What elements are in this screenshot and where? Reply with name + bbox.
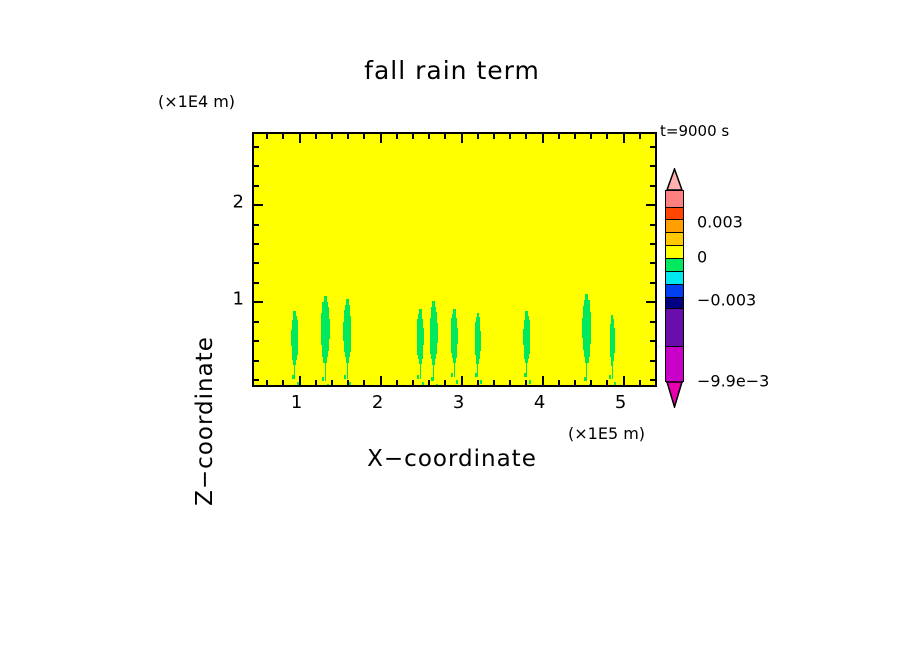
axis-tick <box>347 380 349 385</box>
plume-tail <box>475 373 477 377</box>
plume-segment <box>586 373 587 381</box>
axis-tick <box>623 376 625 385</box>
axis-tick <box>412 134 414 139</box>
axis-tick <box>363 380 365 385</box>
colorbar-band <box>666 259 683 272</box>
figure-canvas: fall rain term (×1E4 m) t=9000 s 12345 1… <box>0 0 904 654</box>
axis-tick <box>650 282 655 284</box>
plume-tail <box>524 373 526 377</box>
axis-tick <box>254 282 259 284</box>
y-tick-label: 1 <box>228 289 244 310</box>
colorbar-band <box>666 298 683 309</box>
axis-tick <box>650 321 655 323</box>
axis-tick <box>428 134 430 139</box>
axis-tick <box>254 340 259 342</box>
plume-segment <box>347 371 348 379</box>
axis-tick <box>606 380 608 385</box>
axis-tick <box>639 134 641 139</box>
plume-tail <box>327 384 329 387</box>
colorbar-top-arrow <box>665 168 684 191</box>
axis-tick <box>650 185 655 187</box>
plume-tail <box>417 375 419 379</box>
colorbar-band <box>666 309 683 347</box>
axis-tick <box>650 165 655 167</box>
y-axis-title-wrap: Z−coordinate <box>100 150 320 190</box>
colorbar-band <box>666 191 683 208</box>
axis-tick <box>396 134 398 139</box>
axis-tick <box>363 134 365 139</box>
colorbar-label: −9.9e−3 <box>697 372 769 391</box>
axis-tick <box>282 380 284 385</box>
axis-tick <box>493 134 495 139</box>
x-tick-label: 3 <box>453 392 464 413</box>
colorbar-band <box>666 233 683 246</box>
plume-tail <box>349 382 351 386</box>
axis-tick <box>623 134 625 143</box>
plume-tail <box>344 375 346 379</box>
axis-tick <box>525 134 527 139</box>
plume-tail <box>436 384 438 387</box>
axis-tick <box>558 134 560 139</box>
colorbar-band <box>666 347 683 383</box>
axis-tick <box>655 380 657 385</box>
figure-title: fall rain term <box>0 56 904 85</box>
axis-tick <box>646 301 655 303</box>
colorbar-band <box>666 220 683 233</box>
x-tick-label: 1 <box>291 392 302 413</box>
axis-tick <box>299 376 301 385</box>
axis-tick <box>509 134 511 139</box>
colorbar-band <box>666 285 683 298</box>
plume-tail <box>322 377 324 381</box>
x-axis-unit-label: (×1E5 m) <box>568 424 645 443</box>
colorbar-band <box>666 246 683 259</box>
axis-tick <box>646 204 655 206</box>
axis-tick <box>639 380 641 385</box>
plume-segment <box>433 373 434 381</box>
axis-tick <box>254 243 259 245</box>
y-axis-unit-label: (×1E4 m) <box>158 92 235 111</box>
axis-tick <box>650 360 655 362</box>
plume-segment <box>454 370 455 377</box>
colorbar-label: 0.003 <box>697 213 743 232</box>
axis-tick <box>477 380 479 385</box>
axis-tick <box>650 146 655 148</box>
axis-tick <box>650 224 655 226</box>
axis-tick <box>509 380 511 385</box>
y-axis-title: Z−coordinate <box>192 311 218 531</box>
axis-tick <box>254 321 259 323</box>
axis-tick <box>655 134 657 139</box>
axis-tick <box>650 262 655 264</box>
plume-tail <box>292 375 294 379</box>
x-tick-label: 2 <box>372 392 383 413</box>
colorbar-bottom-arrow <box>665 381 684 408</box>
plume-segment <box>294 372 295 379</box>
axis-tick <box>299 134 301 143</box>
axis-tick <box>650 340 655 342</box>
axis-tick <box>542 134 544 143</box>
axis-tick <box>444 134 446 139</box>
colorbar[interactable] <box>665 190 684 382</box>
axis-tick <box>461 376 463 385</box>
axis-tick <box>461 134 463 143</box>
axis-tick <box>525 380 527 385</box>
time-annotation: t=9000 s <box>660 122 729 140</box>
plume-tail <box>609 375 611 379</box>
x-tick-label: 4 <box>534 392 545 413</box>
plume-segment <box>526 370 527 377</box>
axis-tick <box>380 134 382 143</box>
axis-tick <box>331 134 333 139</box>
axis-tick <box>254 146 259 148</box>
plume-tail <box>451 373 453 377</box>
axis-tick <box>542 376 544 385</box>
x-tick-label: 5 <box>615 392 626 413</box>
plume-tail <box>584 377 586 381</box>
plume-segment <box>420 372 421 379</box>
axis-tick <box>650 379 655 381</box>
x-axis-title: X−coordinate <box>0 446 904 472</box>
plume-segment <box>325 373 326 381</box>
axis-tick <box>266 134 268 139</box>
axis-tick <box>315 134 317 139</box>
axis-tick <box>590 380 592 385</box>
axis-tick <box>254 204 263 206</box>
axis-tick <box>428 380 430 385</box>
colorbar-label: 0 <box>697 248 707 267</box>
axis-tick <box>254 360 259 362</box>
axis-tick <box>315 380 317 385</box>
axis-tick <box>380 376 382 385</box>
axis-tick <box>347 134 349 139</box>
axis-tick <box>412 380 414 385</box>
axis-tick <box>606 134 608 139</box>
plume-tail <box>614 382 616 386</box>
colorbar-label: −0.003 <box>697 291 756 310</box>
axis-tick <box>331 380 333 385</box>
axis-tick <box>493 380 495 385</box>
axis-tick <box>444 380 446 385</box>
axis-tick <box>650 243 655 245</box>
axis-tick <box>254 301 263 303</box>
plume-tail <box>529 380 531 384</box>
plume-tail <box>422 382 424 386</box>
axis-tick <box>282 134 284 139</box>
axis-tick <box>477 134 479 139</box>
axis-tick <box>558 380 560 385</box>
plume-segment <box>612 372 613 379</box>
plume-tail <box>456 380 458 384</box>
axis-tick <box>254 379 259 381</box>
axis-tick <box>266 380 268 385</box>
y-tick-label: 2 <box>228 192 244 213</box>
axis-tick <box>396 380 398 385</box>
colorbar-band <box>666 208 683 220</box>
axis-tick <box>574 380 576 385</box>
plume-segment <box>477 370 478 377</box>
plume-tail <box>431 377 433 381</box>
colorbar-band <box>666 272 683 285</box>
axis-tick <box>574 134 576 139</box>
plume-tail <box>480 380 482 384</box>
axis-tick <box>254 224 259 226</box>
axis-tick <box>254 262 259 264</box>
axis-tick <box>590 134 592 139</box>
